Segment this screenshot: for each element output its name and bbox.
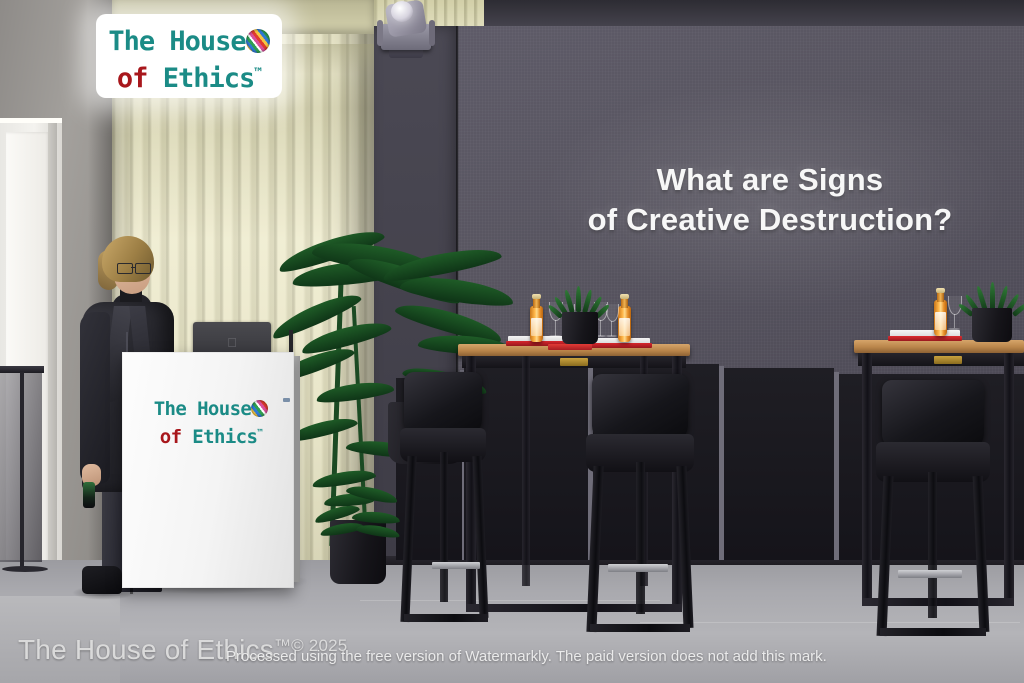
brand-logo-overlay: The House of Ethics™ [96,14,282,98]
podium-logo-ethics: Ethics [192,426,257,448]
acoustic-panel-3 [724,368,834,560]
stool-leg [636,462,645,614]
door-header [0,118,62,123]
bottle-label [531,318,542,336]
stool-leg [440,452,448,602]
succulent-pot-center [562,312,598,344]
fern-plant [312,486,408,542]
bar-stool-left-back [404,372,482,436]
door-edge [48,120,57,604]
logo-line-1: The House [96,14,282,57]
bottle-neck [937,292,944,302]
floor-reflection [640,622,1020,623]
bottle-neck [533,298,540,308]
lectern-podium [122,352,294,588]
light-lens [391,1,413,22]
book-red [888,336,962,341]
bar-stool-right-back [882,380,984,450]
stool-leg [928,472,937,618]
book-red [590,343,652,348]
podium-logo-line-2: of Ethics™ [136,420,286,448]
stool-footrest [608,564,668,572]
presentation-clicker[interactable] [83,482,95,508]
podium-logo-the: The [154,398,187,420]
slide-line-1: What are Signs [520,160,1020,200]
bottle-cap [936,288,945,293]
photo-stage: What are Signs of Creative Destruction? [0,0,1024,683]
stool-base-rail [590,624,690,632]
fern-frond [352,510,401,524]
slide-heading: What are Signs of Creative Destruction? [520,160,1020,239]
stool-footrest [898,570,962,578]
logo-ethics: Ethics [163,63,255,94]
podium-logo-of: of [160,426,182,448]
light-yoke-left [377,20,383,46]
side-table-base [2,566,48,572]
table-plaque [934,356,962,364]
table-foot-rail [466,604,682,612]
table-plaque [560,358,588,366]
speaker-boot [82,566,122,594]
table-leg [522,356,530,586]
podium-logo-house: House [197,398,251,420]
stool-base-rail [880,628,986,636]
stage-light-icon [375,0,437,60]
eyeglasses-icon [117,263,151,272]
light-yoke-right [429,20,435,46]
apple-logo-icon:  [226,336,238,350]
book-red-center [548,344,592,350]
succulent-pot-right [972,308,1012,342]
bottle-neck [621,298,628,308]
podium-brand-logo: The House of Ethics™ [136,398,286,462]
watermarkly-notice: Processed using the free version of Wate… [226,648,827,665]
stool-base-rail [404,614,488,622]
glass-foot [549,335,561,337]
podium-logo-line-1: The House [136,398,286,420]
bottle-cap [532,294,541,299]
bottle-label [935,312,946,330]
podium-logo-tm: ™ [257,429,262,439]
glass-stem [611,321,612,336]
logo-of: of [117,63,148,94]
glass-stem [954,314,955,328]
logo-tm: ™ [254,66,261,81]
stool-footrest [432,562,480,569]
fern-frond [355,523,400,540]
speaker-arm-left [80,312,110,484]
bar-stool-center-back [592,374,688,442]
side-table-leg [20,372,24,568]
glass-foot [948,328,960,330]
glass-stem [600,320,601,336]
speaker-hair [102,236,154,282]
bottle-cap [620,294,629,299]
flag-globe-icon [246,29,270,53]
logo-line-2: of Ethics™ [96,57,282,94]
glass-foot [606,335,617,337]
glass-stem [555,320,556,336]
logo-the: The [108,26,154,57]
slide-line-2: of Creative Destruction? [520,200,1020,240]
logo-house: House [169,26,245,57]
table-leg [1004,353,1014,603]
ceiling [484,0,1024,26]
bottle-label [619,318,630,336]
flag-globe-icon [251,400,268,417]
table-leg [862,353,872,603]
